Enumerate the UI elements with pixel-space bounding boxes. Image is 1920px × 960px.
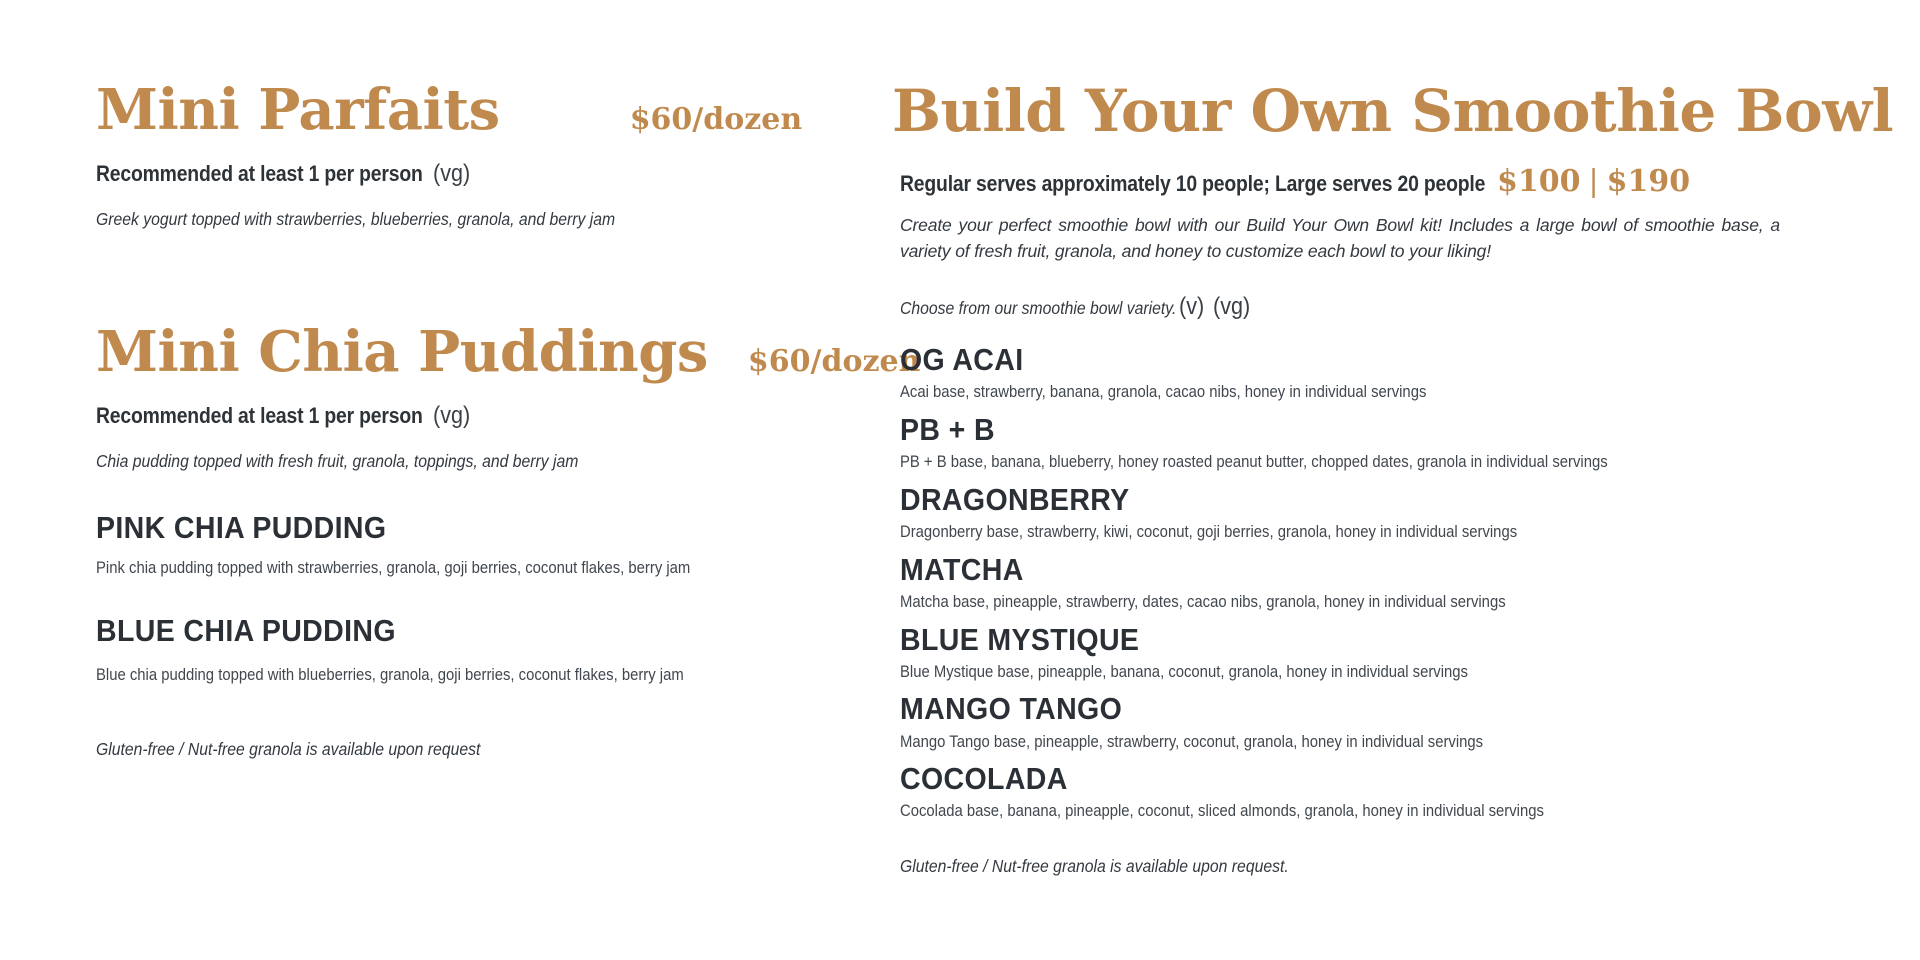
mini-parfaits-diet-tag: (vg) — [433, 160, 470, 188]
smoothie-price-separator: | — [1581, 164, 1607, 199]
mini-parfaits-title-row: Mini Parfaits $60/dozen — [96, 82, 900, 138]
smoothie-variety-row: Choose from our smoothie bowl variety. (… — [900, 293, 1920, 321]
smoothie-price-large: $190 — [1607, 164, 1691, 199]
smoothie-bowl-section: Build Your Own Smoothie Bowl Regular ser… — [900, 82, 1920, 877]
mini-chia-diet-tag: (vg) — [433, 402, 470, 430]
smoothie-bowl-description: Create your perfect smoothie bowl with o… — [900, 213, 1780, 265]
chia-item-pink: PINK CHIA PUDDING Pink chia pudding topp… — [96, 511, 900, 579]
mini-parfaits-description: Greek yogurt topped with strawberries, b… — [96, 206, 820, 232]
mini-parfaits-recommendation: Recommended at least 1 per person — [96, 161, 423, 187]
mini-chia-price: $60/dozen — [748, 344, 921, 379]
mini-chia-recommendation: Recommended at least 1 per person — [96, 403, 423, 429]
smoothie-serving-note: Regular serves approximately 10 people; … — [900, 171, 1485, 197]
smoothie-item-pb-b-name: PB + B — [900, 413, 1838, 447]
smoothie-diet-tag-vg: (vg) — [1213, 293, 1250, 321]
smoothie-item-matcha-description: Matcha base, pineapple, strawberry, date… — [900, 593, 1818, 613]
smoothie-item-mango-tango-description: Mango Tango base, pineapple, strawberry,… — [900, 733, 1818, 753]
mini-chia-description: Chia pudding topped with fresh fruit, gr… — [96, 448, 820, 474]
smoothie-variety-prompt: Choose from our smoothie bowl variety. — [900, 295, 1176, 321]
left-column: Mini Parfaits $60/dozen Recommended at l… — [0, 0, 900, 960]
smoothie-item-blue-mystique: BLUE MYSTIQUE Blue Mystique base, pineap… — [900, 623, 1920, 683]
smoothie-items-list: OG ACAI Acai base, strawberry, banana, g… — [900, 343, 1920, 822]
smoothie-item-cocolada: COCOLADA Cocolada base, banana, pineappl… — [900, 762, 1920, 822]
mini-chia-title-row: Mini Chia Puddings $60/dozen — [96, 324, 900, 380]
mini-parfaits-price: $60/dozen — [630, 102, 803, 137]
smoothie-item-mango-tango: MANGO TANGO Mango Tango base, pineapple,… — [900, 692, 1920, 752]
mini-chia-recommendation-row: Recommended at least 1 per person (vg) — [96, 402, 900, 430]
menu-page: Mini Parfaits $60/dozen Recommended at l… — [0, 0, 1920, 960]
section-mini-chia-puddings: Mini Chia Puddings $60/dozen Recommended… — [96, 324, 900, 686]
smoothie-item-mango-tango-name: MANGO TANGO — [900, 692, 1838, 726]
smoothie-item-matcha-name: MATCHA — [900, 553, 1838, 587]
smoothie-item-og-acai-description: Acai base, strawberry, banana, granola, … — [900, 383, 1818, 403]
mini-parfaits-title: Mini Parfaits — [96, 82, 500, 138]
smoothie-price-regular: $100 — [1497, 164, 1581, 199]
right-column: Build Your Own Smoothie Bowl Regular ser… — [900, 0, 1920, 960]
smoothie-item-og-acai-name: OG ACAI — [900, 343, 1838, 377]
chia-item-pink-name: PINK CHIA PUDDING — [96, 511, 836, 545]
chia-item-blue: BLUE CHIA PUDDING Blue chia pudding topp… — [96, 614, 900, 686]
smoothie-serving-row: Regular serves approximately 10 people; … — [900, 164, 1920, 199]
smoothie-item-dragonberry-name: DRAGONBERRY — [900, 483, 1838, 517]
smoothie-diet-tag-v: (v) — [1179, 293, 1204, 321]
smoothie-item-cocolada-name: COCOLADA — [900, 762, 1838, 796]
chia-item-blue-description: Blue chia pudding topped with blueberrie… — [96, 666, 820, 686]
smoothie-item-og-acai: OG ACAI Acai base, strawberry, banana, g… — [900, 343, 1920, 403]
mini-chia-title: Mini Chia Puddings — [96, 324, 708, 380]
smoothie-item-dragonberry-description: Dragonberry base, strawberry, kiwi, coco… — [900, 523, 1818, 543]
smoothie-item-blue-mystique-name: BLUE MYSTIQUE — [900, 623, 1838, 657]
section-mini-parfaits: Mini Parfaits $60/dozen Recommended at l… — [96, 82, 900, 232]
smoothie-item-blue-mystique-description: Blue Mystique base, pineapple, banana, c… — [900, 663, 1818, 683]
smoothie-item-cocolada-description: Cocolada base, banana, pineapple, coconu… — [900, 802, 1818, 822]
left-column-footnote: Gluten-free / Nut-free granola is availa… — [96, 739, 480, 760]
mini-parfaits-recommendation-row: Recommended at least 1 per person (vg) — [96, 160, 900, 188]
smoothie-item-matcha: MATCHA Matcha base, pineapple, strawberr… — [900, 553, 1920, 613]
right-column-footnote: Gluten-free / Nut-free granola is availa… — [900, 856, 1818, 877]
smoothie-item-pb-b: PB + B PB + B base, banana, blueberry, h… — [900, 413, 1920, 473]
smoothie-item-dragonberry: DRAGONBERRY Dragonberry base, strawberry… — [900, 483, 1920, 543]
smoothie-item-pb-b-description: PB + B base, banana, blueberry, honey ro… — [900, 453, 1818, 473]
chia-item-blue-name: BLUE CHIA PUDDING — [96, 614, 836, 648]
chia-item-pink-description: Pink chia pudding topped with strawberri… — [96, 559, 820, 579]
smoothie-bowl-title: Build Your Own Smoothie Bowl — [892, 82, 1920, 140]
